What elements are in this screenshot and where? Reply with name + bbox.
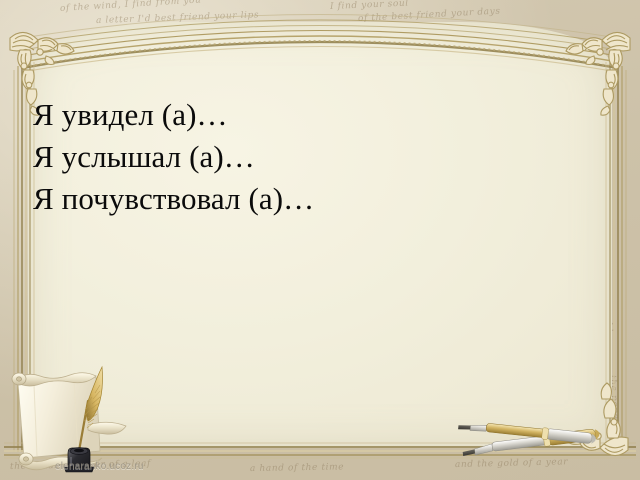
slide-text-line-2: Я услышал (а)… [33, 136, 593, 178]
handwriting-script-mark: a hand of the time [250, 462, 344, 474]
slide-text-line-3: Я почувствовал (а)… [33, 178, 593, 220]
slide-text-block: Я увидел (а)… Я услышал (а)… Я почувство… [33, 94, 593, 220]
slide-text-line-1: Я увидел (а)… [33, 94, 593, 136]
handwriting-script-mark: I find your soul [330, 0, 409, 12]
parchment-panel [28, 22, 612, 448]
crackle-texture [28, 22, 612, 448]
watermark-url: elenaranko.ucoz.ru [55, 461, 144, 472]
slide-canvas: of the wind, I find from you a letter I'… [0, 0, 640, 480]
handwriting-script-mark: of the wind, I find from you [60, 0, 202, 14]
handwriting-script-mark: and the gold of a year [455, 457, 568, 470]
